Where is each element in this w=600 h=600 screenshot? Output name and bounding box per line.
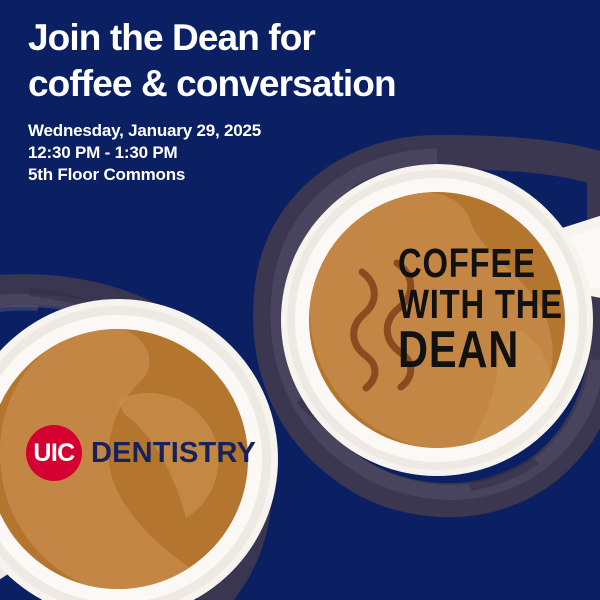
coffee-cups-illustration — [0, 0, 600, 600]
poster-canvas: Join the Dean for coffee & conversation … — [0, 0, 600, 600]
